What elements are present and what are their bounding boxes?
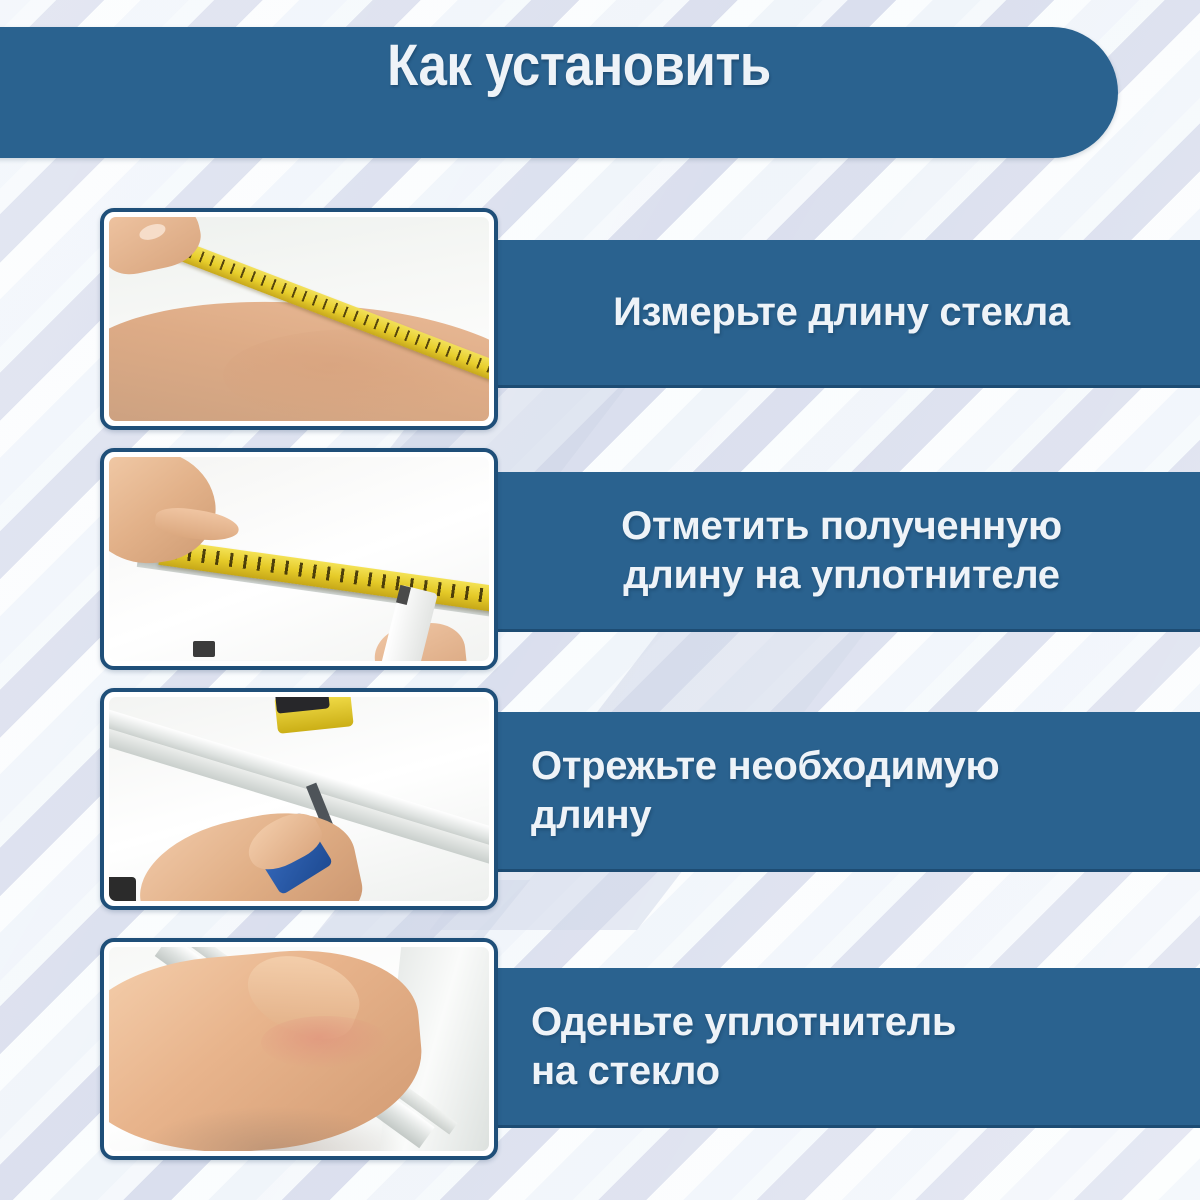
step-row: Отрежьте необходимую длину bbox=[0, 668, 1200, 914]
steps-list: Измерьте длину стекла bbox=[0, 170, 1200, 1200]
step-row: Отметить полученную длину на уплотнителе bbox=[0, 428, 1200, 674]
step-label-line: длину на уплотнителе bbox=[531, 551, 1152, 600]
step-label-line: Отметить полученную bbox=[531, 502, 1152, 551]
step-text-bar: Измерьте длину стекла bbox=[477, 240, 1200, 388]
clip-shape bbox=[193, 641, 216, 657]
step-label: Отрежьте необходимую длину bbox=[531, 742, 999, 840]
step-row: Измерьте длину стекла bbox=[0, 188, 1200, 434]
step-label: Измерьте длину стекла bbox=[531, 288, 1172, 337]
step-label-line: Измерьте длину стекла bbox=[531, 288, 1152, 337]
photo-inner bbox=[109, 697, 489, 901]
photo-fit-seal-onto-glass bbox=[100, 938, 498, 1160]
step-label-line: длину bbox=[531, 791, 999, 840]
corner-object-shape bbox=[109, 877, 136, 901]
photo-inner bbox=[109, 947, 489, 1151]
step-label: Оденьте уплотнитель на стекло bbox=[531, 998, 956, 1096]
photo-inner bbox=[109, 217, 489, 421]
photo-cut-required-length bbox=[100, 688, 498, 910]
hand-shadow bbox=[139, 1106, 405, 1151]
photo-measure-glass-length bbox=[100, 208, 498, 430]
step-label: Отметить полученную длину на уплотнителе bbox=[531, 502, 1172, 600]
photo-mark-length-on-seal bbox=[100, 448, 498, 670]
step-text-bar: Отметить полученную длину на уплотнителе bbox=[477, 472, 1200, 632]
step-label-line: Отрежьте необходимую bbox=[531, 742, 999, 791]
photo-inner bbox=[109, 457, 489, 661]
step-text-bar: Отрежьте необходимую длину bbox=[477, 712, 1200, 872]
step-label-line: на стекло bbox=[531, 1047, 956, 1096]
step-text-bar: Оденьте уплотнитель на стекло bbox=[477, 968, 1200, 1128]
step-row: Оденьте уплотнитель на стекло bbox=[0, 918, 1200, 1164]
page-title: Как установить bbox=[105, 0, 1054, 131]
instruction-poster: Как установить Измерьте длину стекла bbox=[0, 0, 1200, 1200]
step-label-line: Оденьте уплотнитель bbox=[531, 998, 956, 1047]
